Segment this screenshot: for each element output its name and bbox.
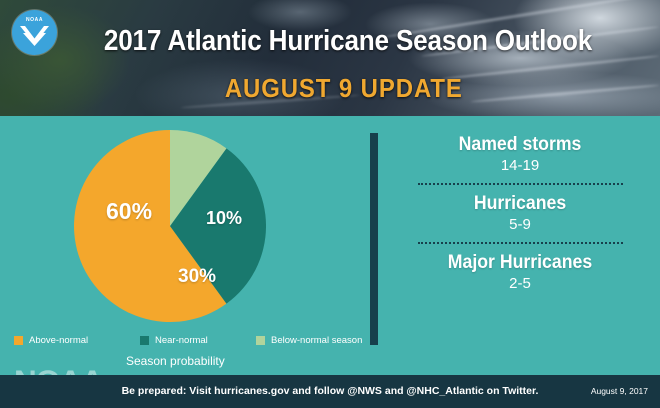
legend-item-below-normal: Below-normal season [256,335,362,346]
content-area: 60% 30% 10% Above-normal Near-normal Bel… [0,116,660,375]
legend-label: Above-normal [29,335,88,346]
legend-item-near-normal: Near-normal [140,335,208,346]
legend-swatch-icon [14,336,23,345]
noaa-seal-label: NOAA [12,17,57,23]
stat-value: 5-9 [392,216,648,233]
stat-major-hurricanes: Major Hurricanes 2-5 [392,252,648,292]
chart-caption: Season probability [126,354,225,368]
footer-date: August 9, 2017 [591,386,648,396]
hurricane-outlook-infographic: NOAA 2017 Atlantic Hurricane Season Outl… [0,0,660,408]
stat-separator [418,242,623,244]
header-banner: NOAA 2017 Atlantic Hurricane Season Outl… [0,0,660,116]
stat-title: Major Hurricanes [401,252,639,274]
legend-label: Near-normal [155,335,208,346]
page-title: 2017 Atlantic Hurricane Season Outlook [33,25,627,58]
pie-label-below-normal: 10% [206,208,242,229]
stat-title: Hurricanes [401,193,639,215]
legend-swatch-icon [140,336,149,345]
stat-hurricanes: Hurricanes 5-9 [392,193,648,233]
stat-separator [418,183,623,185]
stat-value: 14-19 [392,157,648,174]
season-probability-pie-chart: 60% 30% 10% [74,130,266,322]
stat-title: Named storms [401,134,639,156]
stat-named-storms: Named storms 14-19 [392,134,648,174]
update-subtitle: AUGUST 9 UPDATE [26,73,633,104]
stat-value: 2-5 [392,275,648,292]
legend-label: Below-normal season [271,335,362,346]
pie-label-near-normal: 30% [178,266,216,288]
footer-message: Be prepared: Visit hurricanes.gov and fo… [0,385,660,397]
legend-swatch-icon [256,336,265,345]
legend-item-above-normal: Above-normal [14,335,88,346]
footer-bar: Be prepared: Visit hurricanes.gov and fo… [0,375,660,408]
pie-label-above-normal: 60% [106,198,152,225]
forecast-stats-panel: Named storms 14-19 Hurricanes 5-9 Major … [392,134,648,292]
chart-legend: Above-normal Near-normal Below-normal se… [14,335,374,349]
vertical-divider [370,133,378,345]
